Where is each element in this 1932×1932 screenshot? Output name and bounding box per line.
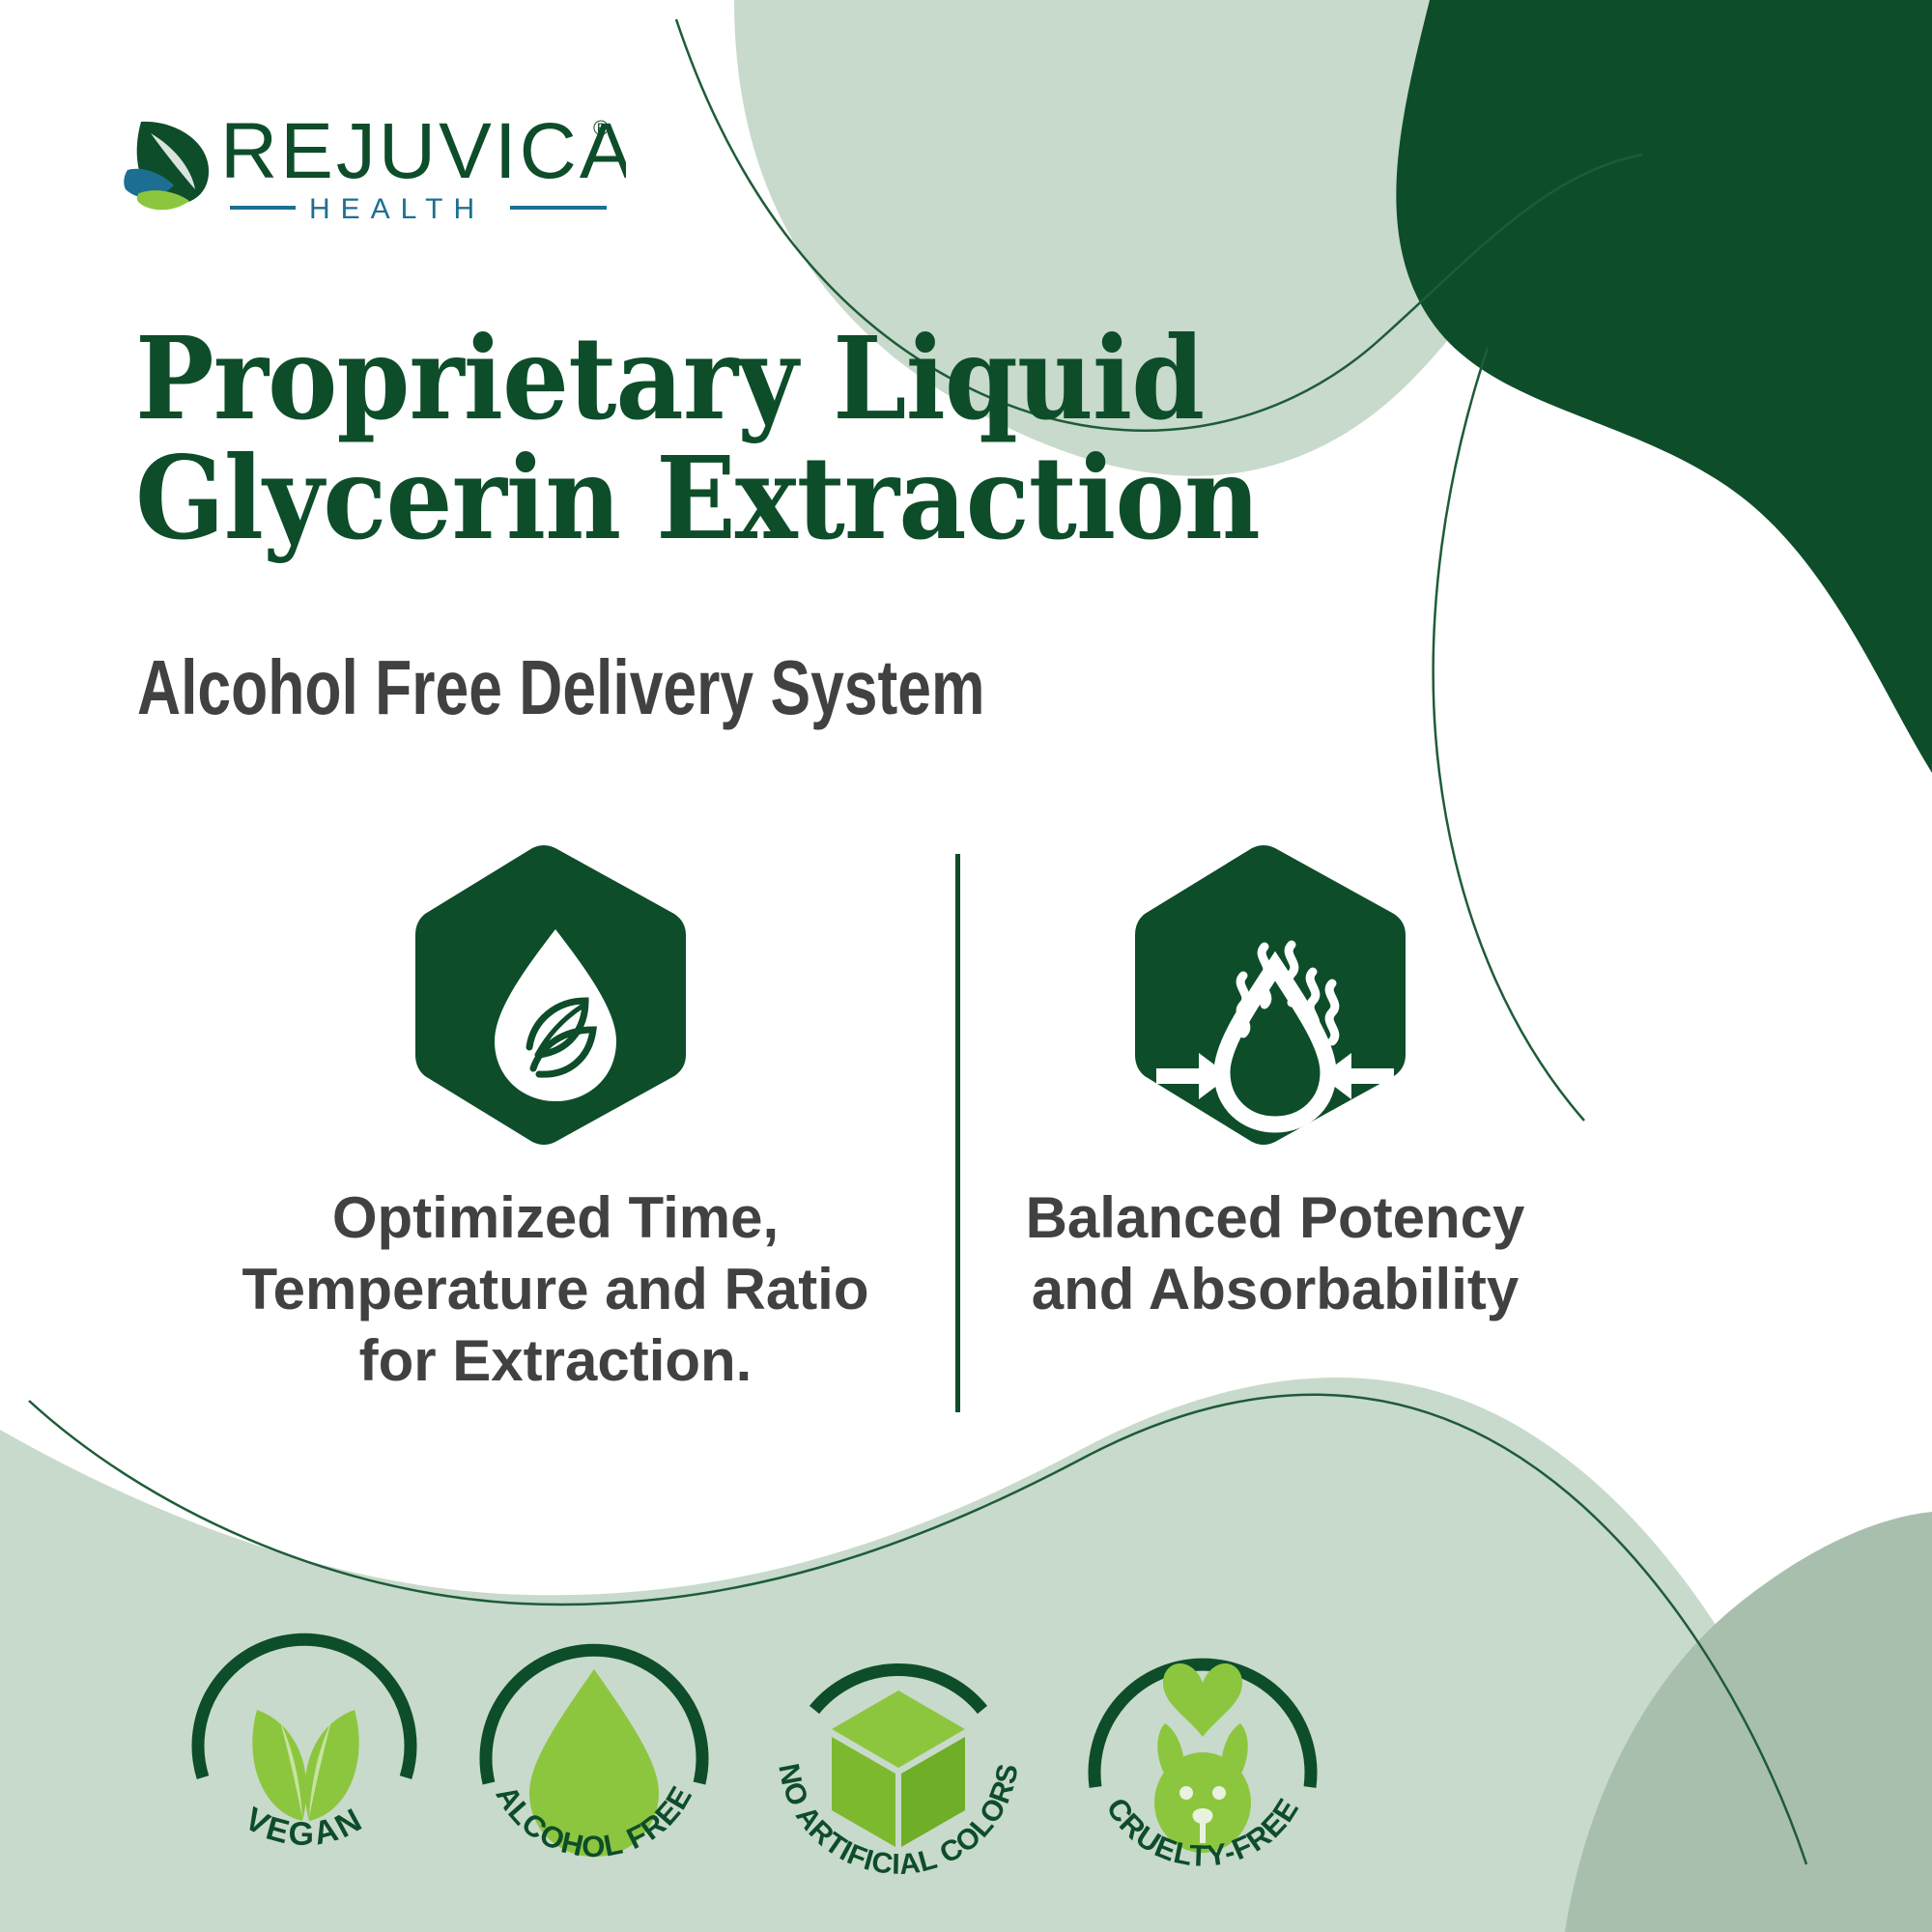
page-title: Proprietary Liquid Glycerin Extraction bbox=[135, 319, 1642, 558]
feature-section: Optimized Time, Temperature and Ratio fo… bbox=[135, 840, 1662, 1420]
rabbit-heart-icon bbox=[1154, 1663, 1251, 1853]
feature-caption-right: Balanced Potency and Absorbability bbox=[908, 1182, 1642, 1325]
feature-caption-line: for Extraction. bbox=[188, 1325, 923, 1397]
marketing-graphic: REJUVICA ® HEALTH Proprietary Liquid Gly… bbox=[0, 0, 1932, 1932]
droplet-leaf-hexagon-icon bbox=[188, 840, 923, 1159]
badge-cruelty-free[interactable]: CRUELTY-FREE bbox=[1063, 1594, 1343, 1884]
headline-line-2: Glycerin Extraction bbox=[135, 439, 1521, 558]
droplet-steam-arrows-hexagon-icon bbox=[908, 840, 1642, 1159]
logo-tagline: HEALTH bbox=[309, 193, 485, 222]
feature-caption-left: Optimized Time, Temperature and Ratio fo… bbox=[188, 1182, 923, 1397]
feature-caption-line: Balanced Potency bbox=[908, 1182, 1642, 1254]
two-leaves-icon bbox=[252, 1710, 358, 1821]
subheadline: Alcohol Free Delivery System bbox=[137, 645, 984, 730]
feature-optimized-extraction: Optimized Time, Temperature and Ratio fo… bbox=[188, 840, 923, 1397]
cube-icon bbox=[832, 1690, 965, 1847]
feature-caption-line: and Absorbability bbox=[908, 1254, 1642, 1325]
feature-caption-line: Temperature and Ratio bbox=[188, 1254, 923, 1325]
certification-badges: VEGAN ALCOHOL FREE bbox=[164, 1594, 1362, 1884]
badge-vegan[interactable]: VEGAN bbox=[164, 1594, 444, 1884]
registered-mark: ® bbox=[593, 116, 609, 140]
leaf-icon bbox=[124, 114, 216, 214]
badge-no-artificial-colors[interactable]: NO ARTIFICIAL COLORS bbox=[758, 1594, 1038, 1884]
brand-logo[interactable]: REJUVICA ® HEALTH bbox=[124, 108, 626, 224]
svg-text:NO ARTIFICIAL COLORS: NO ARTIFICIAL COLORS bbox=[772, 1761, 1024, 1881]
headline-line-1: Proprietary Liquid bbox=[135, 319, 1521, 439]
badge-alcohol-free[interactable]: ALCOHOL FREE bbox=[454, 1594, 734, 1884]
feature-balanced-potency: Balanced Potency and Absorbability bbox=[908, 840, 1642, 1325]
logo-wordmark: REJUVICA ® HEALTH bbox=[220, 108, 626, 222]
feature-caption-line: Optimized Time, bbox=[188, 1182, 923, 1254]
logo-wordmark-text: REJUVICA bbox=[220, 108, 626, 195]
badge-label: NO ARTIFICIAL COLORS bbox=[772, 1761, 1024, 1881]
